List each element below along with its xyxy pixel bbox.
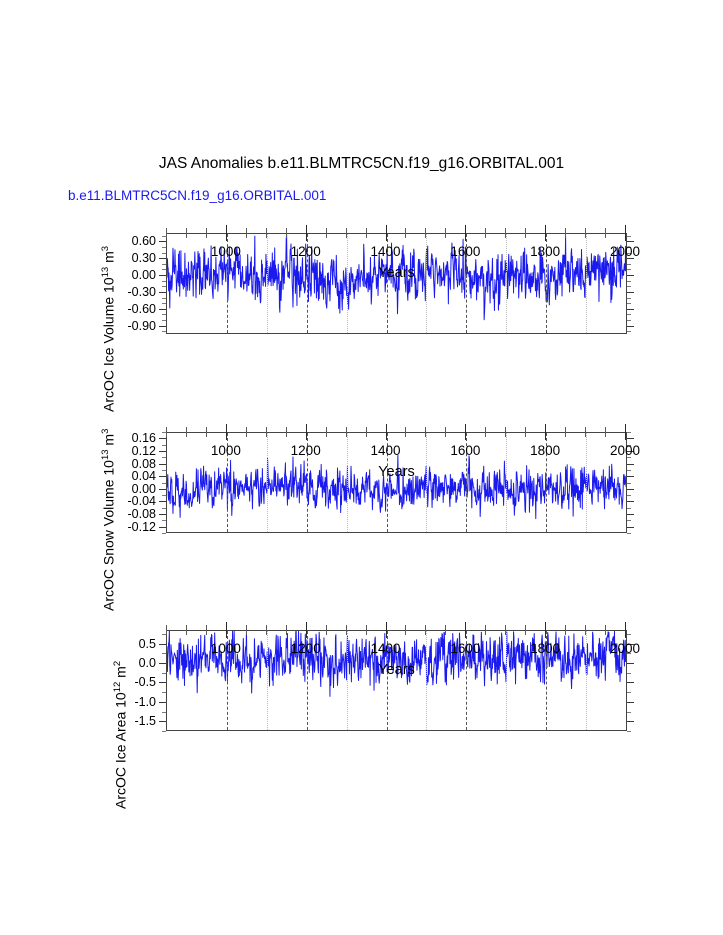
x-tick-minor-top <box>326 427 327 432</box>
x-tick-minor-top <box>505 427 506 432</box>
x-tick-major-top <box>386 424 387 432</box>
y-tick-minor-right <box>627 520 631 521</box>
x-tick-major-top <box>306 424 307 432</box>
x-tick-minor-top <box>246 427 247 432</box>
x-tick-minor-top <box>425 625 426 630</box>
y-tick-major <box>159 514 166 515</box>
x-tick-minor <box>485 630 486 635</box>
y-tick-major-right <box>627 527 634 528</box>
y-tick-label: 0.5 <box>139 637 156 651</box>
y-tick-minor-right <box>627 432 631 433</box>
x-tick-major <box>226 630 227 638</box>
x-tick-minor <box>405 432 406 437</box>
x-tick-minor-top <box>565 427 566 432</box>
x-tick-minor-top <box>206 625 207 630</box>
x-tick-minor <box>565 233 566 238</box>
x-tick-minor-top <box>266 427 267 432</box>
y-tick-major <box>159 702 166 703</box>
y-tick-minor-right <box>627 731 631 732</box>
x-tick-minor-top <box>405 625 406 630</box>
x-axis-title: Years <box>166 464 627 480</box>
x-tick-minor <box>286 630 287 635</box>
x-tick-major-top <box>226 424 227 432</box>
page-title: JAS Anomalies b.e11.BLMTRC5CN.f19_g16.OR… <box>0 155 723 173</box>
y-tick-minor <box>162 692 166 693</box>
x-tick-minor <box>585 233 586 238</box>
x-tick-minor-top <box>525 228 526 233</box>
x-tick-minor-top <box>366 228 367 233</box>
x-tick-major-top <box>465 225 466 233</box>
x-tick-major <box>386 630 387 638</box>
gridline-x-minor-1100 <box>267 433 268 532</box>
x-tick-minor-top <box>565 228 566 233</box>
x-tick-minor <box>186 432 187 437</box>
x-tick-label: 1000 <box>211 443 241 458</box>
x-tick-major-top <box>386 225 387 233</box>
y-tick-major <box>159 275 166 276</box>
x-tick-minor <box>585 630 586 635</box>
y-tick-major-right <box>627 326 634 327</box>
x-tick-minor-top <box>505 625 506 630</box>
y-tick-label: -0.5 <box>134 675 156 689</box>
y-tick-minor-right <box>627 303 631 304</box>
x-tick-minor <box>286 432 287 437</box>
x-tick-minor <box>445 432 446 437</box>
y-tick-minor <box>162 298 166 299</box>
x-tick-minor <box>326 233 327 238</box>
y-tick-major-right <box>627 275 634 276</box>
y-tick-minor-right <box>627 320 631 321</box>
y-tick-major-right <box>627 663 634 664</box>
x-tick-minor <box>266 630 267 635</box>
x-tick-minor-top <box>286 625 287 630</box>
y-tick-minor <box>162 457 166 458</box>
gridline-x-minor-1300 <box>347 234 348 333</box>
x-tick-minor <box>186 630 187 635</box>
y-tick-minor <box>162 483 166 484</box>
x-tick-minor-top <box>246 228 247 233</box>
x-tick-minor <box>605 630 606 635</box>
x-tick-major <box>306 630 307 638</box>
x-tick-major <box>306 233 307 241</box>
y-tick-minor-right <box>627 533 631 534</box>
y-tick-minor-right <box>627 281 631 282</box>
y-tick-major <box>159 438 166 439</box>
y-tick-major <box>159 527 166 528</box>
x-tick-major <box>465 432 466 440</box>
y-tick-major <box>159 476 166 477</box>
y-tick-major <box>159 309 166 310</box>
y-tick-minor-right <box>627 712 631 713</box>
x-tick-minor-top <box>166 228 167 233</box>
x-tick-label: 1000 <box>211 641 241 656</box>
x-tick-minor <box>505 630 506 635</box>
x-tick-minor-top <box>405 427 406 432</box>
x-tick-minor-top <box>585 625 586 630</box>
y-tick-major-right <box>627 309 634 310</box>
x-tick-minor <box>565 630 566 635</box>
y-tick-label: -0.12 <box>128 520 157 534</box>
x-tick-minor <box>246 630 247 635</box>
x-tick-minor-top <box>525 625 526 630</box>
x-tick-minor-top <box>425 228 426 233</box>
gridline-x-minor-1900 <box>586 433 587 532</box>
x-tick-major-top <box>625 225 626 233</box>
x-tick-minor-top <box>166 427 167 432</box>
y-tick-major <box>159 501 166 502</box>
y-tick-major <box>159 451 166 452</box>
y-tick-minor <box>162 653 166 654</box>
y-axis-title-ice-area: ArcOC Ice Area 1012 m2 <box>112 661 129 809</box>
x-tick-major <box>545 233 546 241</box>
x-tick-minor <box>366 233 367 238</box>
y-tick-major-right <box>627 438 634 439</box>
y-tick-major <box>159 292 166 293</box>
x-tick-minor-top <box>605 625 606 630</box>
x-tick-label: 2000 <box>610 244 640 259</box>
x-tick-minor <box>505 432 506 437</box>
x-tick-minor <box>326 432 327 437</box>
x-tick-minor <box>326 630 327 635</box>
x-tick-label: 1800 <box>530 244 560 259</box>
y-tick-minor <box>162 247 166 248</box>
x-tick-minor <box>286 233 287 238</box>
y-tick-major <box>159 258 166 259</box>
x-tick-major-top <box>465 424 466 432</box>
y-tick-label: 0.0 <box>139 656 156 670</box>
y-tick-label: -0.30 <box>128 285 157 299</box>
x-tick-major <box>465 630 466 638</box>
y-tick-minor-right <box>627 236 631 237</box>
gridline-x-minor-1700 <box>506 631 507 730</box>
x-tick-major <box>306 432 307 440</box>
figure-canvas: JAS Anomalies b.e11.BLMTRC5CN.f19_g16.OR… <box>0 0 723 935</box>
x-tick-minor-top <box>186 427 187 432</box>
y-tick-minor <box>162 533 166 534</box>
x-tick-minor <box>246 233 247 238</box>
x-tick-minor-top <box>565 625 566 630</box>
x-tick-label: 2000 <box>610 641 640 656</box>
y-tick-label: -1.0 <box>134 695 156 709</box>
y-tick-minor <box>162 303 166 304</box>
y-tick-major-right <box>627 682 634 683</box>
y-tick-major <box>159 489 166 490</box>
x-tick-major-top <box>386 622 387 630</box>
figure-legend-label: b.e11.BLMTRC5CN.f19_g16.ORBITAL.001 <box>68 188 326 203</box>
x-tick-minor-top <box>445 625 446 630</box>
gridline-x-minor-1900 <box>586 631 587 730</box>
x-tick-minor <box>525 432 526 437</box>
x-tick-major-top <box>625 622 626 630</box>
gridline-x-minor-1100 <box>267 631 268 730</box>
y-tick-label: -1.5 <box>134 714 156 728</box>
y-tick-label: 0.30 <box>132 251 156 265</box>
x-tick-major <box>226 233 227 241</box>
x-tick-major-top <box>465 622 466 630</box>
y-axis-title-ice-volume: ArcOC Ice Volume 1013 m3 <box>100 246 117 412</box>
y-tick-major <box>159 464 166 465</box>
y-tick-major <box>159 682 166 683</box>
gridline-x-minor-1500 <box>426 631 427 730</box>
gridline-x-minor-1900 <box>586 234 587 333</box>
y-tick-minor-right <box>627 298 631 299</box>
x-tick-minor-top <box>485 228 486 233</box>
x-tick-minor <box>505 233 506 238</box>
x-tick-minor-top <box>505 228 506 233</box>
y-axis-title-snow-volume: ArcOC Snow Volume 1013 m3 <box>100 429 117 611</box>
y-tick-major-right <box>627 292 634 293</box>
x-tick-label: 1400 <box>370 641 400 656</box>
x-tick-minor <box>405 233 406 238</box>
y-tick-minor-right <box>627 483 631 484</box>
gridline-x-minor-1300 <box>347 631 348 730</box>
y-tick-minor <box>162 445 166 446</box>
x-tick-minor-top <box>266 625 267 630</box>
y-tick-minor-right <box>627 314 631 315</box>
y-tick-minor-right <box>627 286 631 287</box>
x-tick-minor <box>605 432 606 437</box>
y-tick-minor <box>162 320 166 321</box>
y-tick-minor <box>162 712 166 713</box>
y-tick-major <box>159 241 166 242</box>
x-tick-minor-top <box>346 228 347 233</box>
x-tick-minor <box>206 432 207 437</box>
x-tick-label: 1400 <box>370 443 400 458</box>
x-tick-minor <box>166 432 167 437</box>
y-tick-major-right <box>627 476 634 477</box>
gridline-x-minor-1100 <box>267 234 268 333</box>
x-tick-major-top <box>625 424 626 432</box>
y-tick-minor <box>162 253 166 254</box>
x-tick-minor-top <box>525 427 526 432</box>
x-tick-label: 1800 <box>530 443 560 458</box>
gridline-x-minor-1500 <box>426 433 427 532</box>
x-tick-minor <box>366 432 367 437</box>
y-tick-minor <box>162 314 166 315</box>
x-tick-minor <box>425 630 426 635</box>
x-tick-minor <box>206 630 207 635</box>
x-tick-minor-top <box>186 228 187 233</box>
x-tick-label: 1600 <box>450 244 480 259</box>
x-tick-label: 1600 <box>450 641 480 656</box>
x-tick-minor-top <box>366 427 367 432</box>
x-tick-minor-top <box>206 228 207 233</box>
x-tick-label: 1600 <box>450 443 480 458</box>
y-tick-minor <box>162 731 166 732</box>
y-tick-minor-right <box>627 264 631 265</box>
x-tick-minor <box>166 630 167 635</box>
x-tick-minor <box>266 233 267 238</box>
gridline-x-minor-1500 <box>426 234 427 333</box>
x-tick-minor <box>425 432 426 437</box>
x-tick-major <box>625 432 626 440</box>
y-tick-minor-right <box>627 269 631 270</box>
x-tick-minor-top <box>346 625 347 630</box>
x-tick-minor-top <box>186 625 187 630</box>
x-tick-minor <box>585 432 586 437</box>
y-tick-minor-right <box>627 692 631 693</box>
x-axis-title: Years <box>166 265 627 281</box>
x-tick-minor-top <box>445 228 446 233</box>
y-tick-label: 0.00 <box>132 268 156 282</box>
x-tick-major-top <box>306 225 307 233</box>
x-tick-minor <box>346 233 347 238</box>
x-tick-minor-top <box>266 228 267 233</box>
x-tick-minor-top <box>585 228 586 233</box>
x-tick-major-top <box>226 225 227 233</box>
x-tick-minor <box>425 233 426 238</box>
x-tick-major-top <box>306 622 307 630</box>
x-tick-major-top <box>545 225 546 233</box>
x-tick-minor <box>445 233 446 238</box>
y-tick-minor-right <box>627 470 631 471</box>
x-tick-minor-top <box>326 625 327 630</box>
x-tick-minor <box>565 432 566 437</box>
gridline-x-minor-1700 <box>506 234 507 333</box>
x-tick-minor-top <box>425 427 426 432</box>
x-tick-minor-top <box>405 228 406 233</box>
gridline-x-minor-1700 <box>506 433 507 532</box>
x-tick-major <box>386 233 387 241</box>
x-tick-minor <box>525 233 526 238</box>
y-tick-label: -0.90 <box>128 319 157 333</box>
x-tick-minor <box>445 630 446 635</box>
x-tick-label: 1000 <box>211 244 241 259</box>
x-tick-minor-top <box>286 427 287 432</box>
y-tick-major-right <box>627 501 634 502</box>
x-tick-label: 1200 <box>291 443 321 458</box>
x-tick-major <box>545 432 546 440</box>
x-tick-minor-top <box>585 427 586 432</box>
y-tick-minor <box>162 286 166 287</box>
x-tick-minor <box>346 630 347 635</box>
y-tick-minor-right <box>627 673 631 674</box>
x-tick-minor <box>246 432 247 437</box>
x-tick-label: 2000 <box>610 443 640 458</box>
x-tick-label: 1400 <box>370 244 400 259</box>
y-tick-major-right <box>627 721 634 722</box>
x-tick-major-top <box>226 622 227 630</box>
y-tick-minor-right <box>627 634 631 635</box>
x-tick-label: 1200 <box>291 641 321 656</box>
x-tick-minor-top <box>326 228 327 233</box>
y-tick-minor-right <box>627 495 631 496</box>
y-tick-major <box>159 663 166 664</box>
x-tick-minor <box>605 233 606 238</box>
x-tick-minor-top <box>485 625 486 630</box>
x-tick-major <box>625 630 626 638</box>
y-tick-minor <box>162 508 166 509</box>
x-tick-major <box>226 432 227 440</box>
x-tick-minor <box>405 630 406 635</box>
y-tick-major-right <box>627 489 634 490</box>
y-tick-minor <box>162 495 166 496</box>
x-tick-minor-top <box>246 625 247 630</box>
x-tick-major-top <box>545 622 546 630</box>
y-tick-minor <box>162 331 166 332</box>
x-tick-minor <box>525 630 526 635</box>
x-tick-minor <box>166 233 167 238</box>
x-tick-minor-top <box>346 427 347 432</box>
x-tick-minor-top <box>286 228 287 233</box>
x-tick-minor-top <box>366 625 367 630</box>
x-tick-minor <box>186 233 187 238</box>
x-tick-minor <box>485 432 486 437</box>
y-tick-minor-right <box>627 331 631 332</box>
gridline-x-minor-1300 <box>347 433 348 532</box>
x-tick-major <box>625 233 626 241</box>
y-tick-label: -0.60 <box>128 302 157 316</box>
y-tick-major <box>159 721 166 722</box>
y-tick-major-right <box>627 241 634 242</box>
y-tick-major-right <box>627 514 634 515</box>
y-tick-major-right <box>627 464 634 465</box>
x-axis-title: Years <box>166 662 627 678</box>
x-tick-minor <box>206 233 207 238</box>
x-tick-minor <box>366 630 367 635</box>
x-tick-minor-top <box>206 427 207 432</box>
x-tick-minor-top <box>605 228 606 233</box>
x-tick-major <box>545 630 546 638</box>
y-tick-minor-right <box>627 508 631 509</box>
x-tick-minor <box>485 233 486 238</box>
y-tick-major <box>159 644 166 645</box>
x-tick-major <box>386 432 387 440</box>
x-tick-minor <box>346 432 347 437</box>
x-tick-label: 1200 <box>291 244 321 259</box>
x-tick-minor-top <box>485 427 486 432</box>
x-tick-minor-top <box>605 427 606 432</box>
x-tick-minor <box>266 432 267 437</box>
y-tick-major <box>159 326 166 327</box>
x-tick-minor-top <box>445 427 446 432</box>
y-tick-label: 0.60 <box>132 234 156 248</box>
x-tick-label: 1800 <box>530 641 560 656</box>
y-tick-major-right <box>627 702 634 703</box>
x-tick-minor-top <box>166 625 167 630</box>
x-tick-major <box>465 233 466 241</box>
y-tick-minor <box>162 520 166 521</box>
x-tick-major-top <box>545 424 546 432</box>
